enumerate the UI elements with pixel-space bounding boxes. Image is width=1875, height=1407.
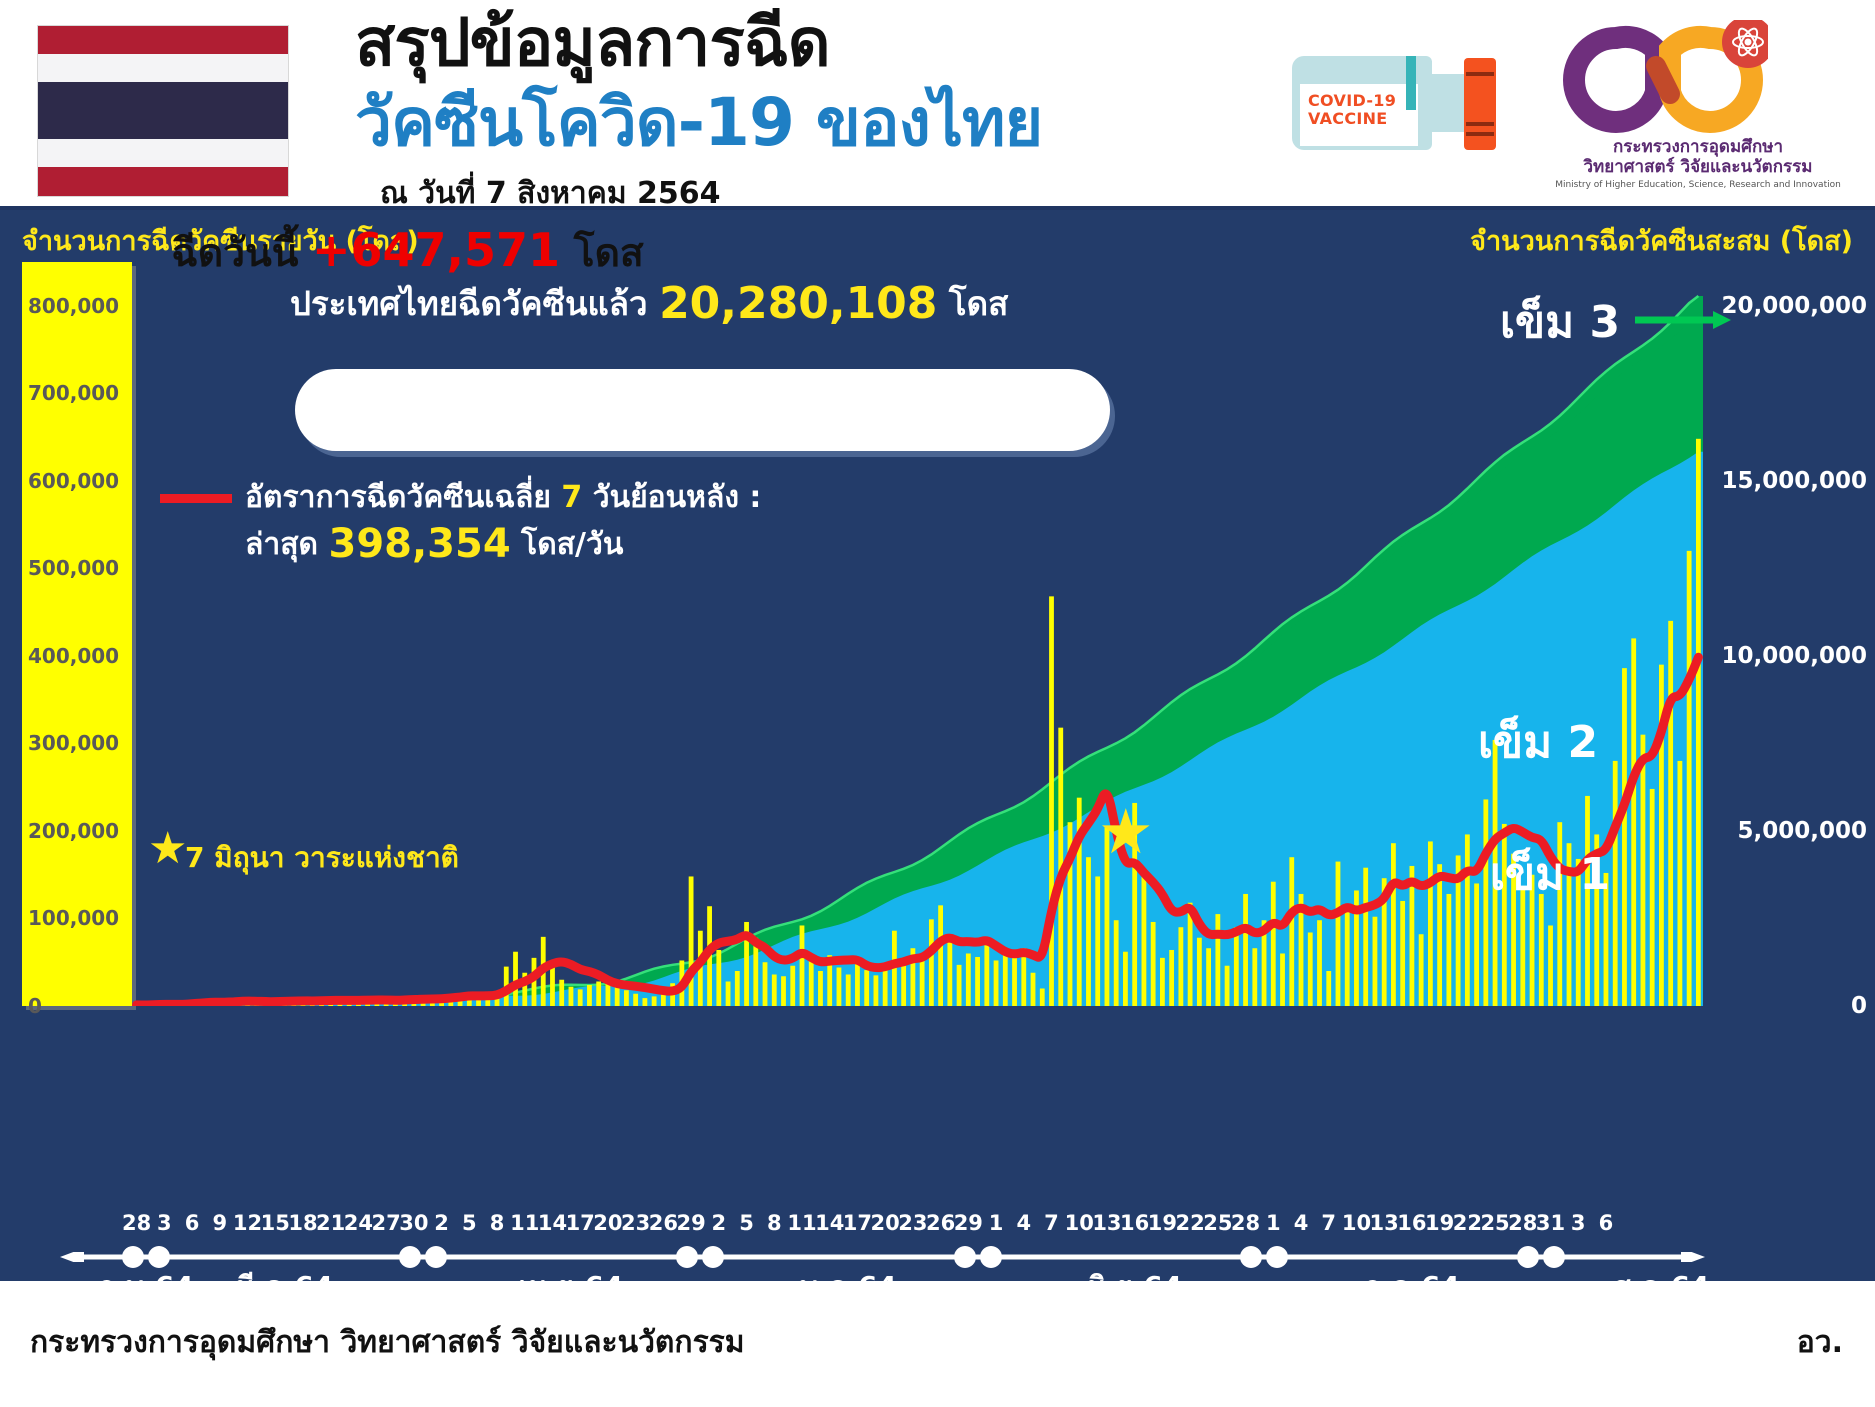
x-axis-tick-label: 2 [434,1211,449,1235]
daily-dose-bar [1419,934,1424,1006]
daily-dose-bar [1271,882,1276,1006]
daily-dose-bar [1308,932,1313,1006]
x-axis-tick-label: 13 [1370,1211,1399,1235]
x-axis-tick-label: 14 [538,1211,567,1235]
daily-dose-bar [550,964,555,1006]
dose2-label: เข็ม 2 [1478,707,1598,777]
x-axis-tick-label: 28 [1508,1211,1537,1235]
x-axis-tick-label: 31 [1536,1211,1565,1235]
y-axis-tick: 400,000 [22,644,132,668]
daily-dose-bar [624,990,629,1006]
x-axis-tick-label: 16 [1397,1211,1426,1235]
covid-vaccine-vial-icon: COVID-19 VACCINE [1288,38,1498,168]
y-axis-tick: 200,000 [22,819,132,843]
right-axis-title: จำนวนการฉีดวัคซีนสะสม (โดส) [1470,219,1853,262]
x-axis-tick-label: 10 [1065,1211,1094,1235]
daily-dose-bar [652,996,657,1006]
daily-dose-bar [772,974,777,1006]
daily-dose-bar [1363,868,1368,1006]
x-axis-tick-label: 7 [1044,1211,1059,1235]
daily-dose-bar [1160,958,1165,1006]
month-boundary-dot [1266,1246,1288,1268]
x-axis-tick-label: 14 [815,1211,844,1235]
daily-dose-bar [1040,988,1045,1006]
daily-dose-bar [726,981,731,1006]
daily-dose-bar [615,987,620,1006]
x-axis-tick-label: 11 [787,1211,816,1235]
daily-dose-bar [818,971,823,1006]
daily-dose-bar [929,919,934,1006]
x-axis-tick-label: 20 [593,1211,622,1235]
y-axis-tick: 100,000 [22,906,132,930]
x-axis-tick-label: 13 [1092,1211,1121,1235]
x-axis-tick-label: 2 [712,1211,727,1235]
daily-dose-bar [1243,894,1248,1006]
daily-dose-bar [781,976,786,1006]
daily-dose-bar [864,970,869,1006]
daily-dose-bar [1289,857,1294,1006]
chart-svg [132,262,1703,1006]
daily-dose-bar [790,966,795,1006]
daily-dose-bar [1215,914,1220,1006]
daily-dose-bar [1345,908,1350,1006]
x-axis-tick-label: 17 [843,1211,872,1235]
infographic-page: สรุปข้อมูลการฉีด วัคซีนโควิด-19 ของไทย ณ… [0,0,1875,1407]
x-axis-tick-label: 18 [288,1211,317,1235]
x-axis-tick-label: 7 [1321,1211,1336,1235]
footer-ministry-name: กระทรวงการอุดมศึกษา วิทยาศาสตร์ วิจัยและ… [30,1319,745,1366]
daily-dose-bar [1474,883,1479,1006]
left-axis-scale: 0100,000200,000300,000400,000500,000600,… [22,262,132,1006]
daily-dose-bar [1095,876,1100,1006]
daily-dose-bar [587,985,592,1006]
daily-dose-bar [1169,950,1174,1006]
daily-dose-bar [1049,596,1054,1006]
y2-axis-tick: 0 [1851,993,1867,1019]
daily-dose-bar [1483,799,1488,1006]
daily-dose-bar [1197,938,1202,1006]
daily-dose-bar [938,905,943,1006]
x-axis-day-labels: 2836912151821242730258111417202326292581… [132,1211,1703,1243]
month-boundary-dot [676,1246,698,1268]
x-axis-tick-label: 26 [649,1211,678,1235]
x-axis-tick-label: 8 [767,1211,782,1235]
daily-dose-bar [1252,948,1257,1006]
dose3-label: เข็ม 3 [1500,287,1731,357]
x-axis-tick-label: 10 [1342,1211,1371,1235]
dose1-label: เข็ม 1 [1490,839,1610,909]
daily-dose-bar [837,967,842,1006]
daily-dose-bar [1548,925,1553,1006]
month-boundary-dot [399,1246,421,1268]
daily-dose-bar [1280,953,1285,1006]
month-boundary-dot [1517,1246,1539,1268]
daily-dose-bar [1317,920,1322,1006]
thailand-flag-icon [38,26,288,196]
daily-dose-bar [1142,876,1147,1006]
national-day-star-marker-icon: ★ [1098,801,1154,863]
mhesi-infinity-mark-icon [1558,20,1768,140]
x-axis-tick-label: 11 [510,1211,539,1235]
x-axis-tick-label: 1 [989,1211,1004,1235]
x-axis-tick-label: 22 [1175,1211,1204,1235]
mhesi-english-name: Ministry of Higher Education, Science, R… [1548,180,1848,190]
daily-dose-bar [994,960,999,1006]
month-boundary-dot [1240,1246,1262,1268]
daily-dose-bar [1622,668,1627,1006]
daily-dose-bar [947,938,952,1006]
daily-dose-bar [874,975,879,1006]
daily-dose-bar [800,925,805,1006]
x-axis-tick-label: 21 [316,1211,345,1235]
x-axis-tick-label: 17 [566,1211,595,1235]
x-axis-tick-label: 6 [1599,1211,1614,1235]
y2-axis-tick: 10,000,000 [1721,643,1867,669]
x-axis-tick-label: 29 [676,1211,705,1235]
x-axis-tick-label: 28 [122,1211,151,1235]
chart-panel: จำนวนการฉีดวัคซีนรายวัน (โดส) จำนวนการฉี… [0,209,1875,1281]
vial-label-line2: VACCINE [1308,110,1418,128]
daily-dose-bar [1086,857,1091,1006]
month-boundary-dot [980,1246,1002,1268]
daily-dose-bar [1225,966,1230,1006]
mhesi-thai-line1: กระทรวงการอุดมศึกษา [1548,138,1848,158]
x-axis-tick-label: 23 [898,1211,927,1235]
x-axis-tick-label: 19 [1425,1211,1454,1235]
daily-dose-bar [1437,864,1442,1006]
x-axis-tick-label: 19 [1148,1211,1177,1235]
x-axis-tick-label: 4 [1294,1211,1309,1235]
x-axis-tick-label: 30 [399,1211,428,1235]
y-axis-tick: 300,000 [22,731,132,755]
daily-dose-bar [1373,917,1378,1006]
y-axis-tick: 800,000 [22,294,132,318]
daily-dose-bar [763,962,768,1006]
daily-dose-bar [846,974,851,1006]
daily-dose-bar [1677,761,1682,1006]
daily-dose-bar [966,953,971,1006]
y2-axis-tick: 5,000,000 [1738,818,1868,844]
month-boundary-dot [954,1246,976,1268]
daily-dose-bar [513,952,518,1006]
daily-dose-bar [1234,927,1239,1006]
y-axis-tick: 500,000 [22,556,132,580]
daily-dose-bar [1613,761,1618,1006]
daily-dose-bar [1668,621,1673,1006]
daily-dose-bar [633,994,638,1006]
daily-dose-bar [1641,735,1646,1006]
x-axis-tick-label: 26 [926,1211,955,1235]
daily-dose-bar [1539,894,1544,1006]
month-boundary-dot [702,1246,724,1268]
chart-plot-area [132,262,1703,1006]
x-axis-tick-label: 8 [490,1211,505,1235]
daily-dose-bar [569,987,574,1006]
daily-dose-bar [1687,551,1692,1006]
daily-dose-bar [957,965,962,1006]
month-boundary-dot [425,1246,447,1268]
daily-dose-bar [984,941,989,1006]
daily-dose-bar [716,950,721,1006]
daily-dose-bar [559,980,564,1006]
daily-dose-bar [1123,952,1128,1006]
y-axis-tick: 700,000 [22,381,132,405]
x-axis-tick-label: 23 [621,1211,650,1235]
daily-dose-bar [1428,841,1433,1006]
y2-axis-tick: 20,000,000 [1721,293,1867,319]
page-title-line2: วัคซีนโควิด-19 ของไทย [355,88,1042,157]
x-axis-tick-label: 20 [871,1211,900,1235]
x-axis-tick-label: 27 [372,1211,401,1235]
x-axis-tick-label: 9 [212,1211,227,1235]
panel-divider [0,206,1875,210]
month-boundary-dot [1543,1246,1565,1268]
daily-dose-bar [855,962,860,1006]
page-title-line1: สรุปข้อมูลการฉีด [355,8,830,77]
x-axis-tick-label: 15 [261,1211,290,1235]
daily-dose-bar [1446,894,1451,1006]
daily-dose-bar [809,960,814,1006]
dose3-text: เข็ม 3 [1500,297,1620,348]
dose3-arrow-icon [1635,309,1731,331]
x-axis-tick-label: 4 [1016,1211,1031,1235]
x-axis-tick-label: 5 [739,1211,754,1235]
x-axis-tick-label: 24 [344,1211,373,1235]
daily-dose-bar [920,960,925,1006]
x-axis-tick-label: 25 [1480,1211,1509,1235]
daily-dose-bar [1465,834,1470,1006]
x-axis-tick-label: 25 [1203,1211,1232,1235]
x-axis-tick-label: 1 [1266,1211,1281,1235]
daily-dose-bar [578,989,583,1006]
daily-dose-bar [642,998,647,1006]
daily-dose-bar [1631,638,1636,1006]
daily-dose-bar [1696,439,1701,1006]
x-axis-tick-label: 29 [954,1211,983,1235]
daily-dose-bar [1326,971,1331,1006]
x-axis-tick-label: 3 [157,1211,172,1235]
daily-dose-bar [735,971,740,1006]
daily-dose-bar [596,981,601,1006]
daily-dose-bar [1114,920,1119,1006]
x-axis-tick-label: 28 [1231,1211,1260,1235]
mhesi-logo: กระทรวงการอุดมศึกษา วิทยาศาสตร์ วิจัยและ… [1548,20,1848,210]
y2-axis-tick: 15,000,000 [1721,468,1867,494]
daily-dose-bar [1012,953,1017,1006]
x-axis-tick-label: 6 [185,1211,200,1235]
daily-dose-bar [1650,789,1655,1006]
daily-dose-bar [975,957,980,1006]
daily-dose-bar [1031,973,1036,1006]
daily-dose-bar [1206,948,1211,1006]
x-axis-tick-label: 5 [462,1211,477,1235]
daily-dose-bar [1151,922,1156,1006]
daily-dose-bar [1336,862,1341,1006]
footer-abbreviation: อว. [1797,1319,1843,1366]
x-axis-tick-label: 22 [1453,1211,1482,1235]
daily-dose-bar [1391,843,1396,1006]
x-axis-tick-label: 16 [1120,1211,1149,1235]
daily-dose-bar [1178,927,1183,1006]
x-axis-arrow [60,1252,1705,1262]
y-axis-tick: 0 [22,994,132,1018]
daily-dose-bar [1003,950,1008,1006]
x-axis-tick-label: 12 [233,1211,262,1235]
daily-dose-bar [689,876,694,1006]
y-axis-tick: 600,000 [22,469,132,493]
mhesi-thai-line2: วิทยาศาสตร์ วิจัยและนวัตกรรม [1548,158,1848,178]
footer: กระทรวงการอุดมศึกษา วิทยาศาสตร์ วิจัยและ… [0,1281,1875,1407]
daily-dose-bar [1400,901,1405,1006]
x-axis-tick-label: 3 [1571,1211,1586,1235]
vial-label-line1: COVID-19 [1308,92,1418,110]
